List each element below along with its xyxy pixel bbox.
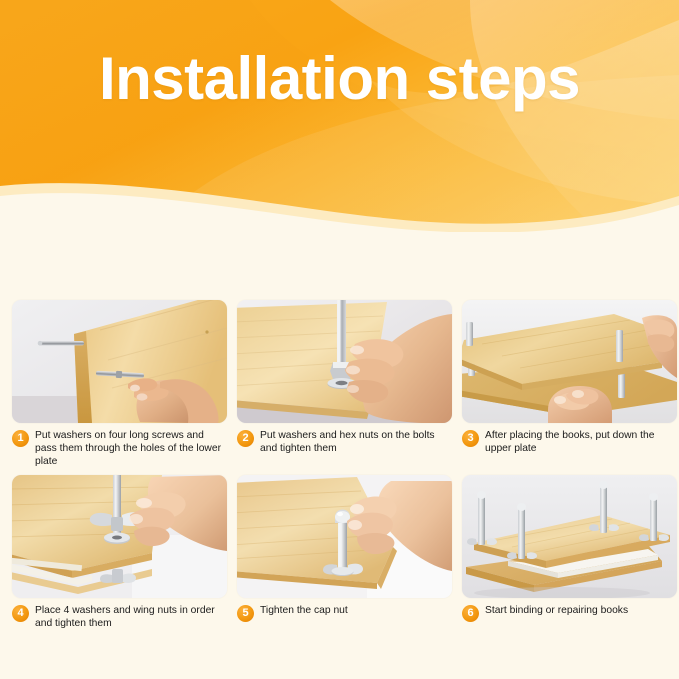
- page-title: Installation steps: [0, 47, 679, 110]
- photo-assembled-book-press-illustration: [462, 475, 677, 598]
- step-caption-2: 2 Put washers and hex nuts on the bolts …: [237, 429, 452, 455]
- step-card-2: 2 Put washers and hex nuts on the bolts …: [237, 300, 452, 469]
- step-photo-5: [237, 475, 452, 598]
- step-badge-3: 3: [462, 430, 479, 447]
- step-caption-6: 6 Start binding or repairing books: [462, 604, 677, 622]
- step-caption-text-6: Start binding or repairing books: [485, 604, 628, 617]
- step-caption-text-4: Place 4 washers and wing nuts in order a…: [35, 604, 225, 630]
- step-caption-3: 3 After placing the books, put down the …: [462, 429, 677, 455]
- step-photo-3: [462, 300, 677, 423]
- step-badge-1: 1: [12, 430, 29, 447]
- step-badge-6: 6: [462, 605, 479, 622]
- photo-hex-nut-tightening-illustration: [237, 300, 452, 423]
- step-photo-1: [12, 300, 227, 423]
- photo-upper-plate-placement-illustration: [462, 300, 677, 423]
- step-caption-4: 4 Place 4 washers and wing nuts in order…: [12, 604, 227, 630]
- header-background-graphic: [0, 0, 679, 232]
- header-banner: Installation steps: [0, 0, 679, 232]
- step-photo-6: [462, 475, 677, 598]
- step-badge-5: 5: [237, 605, 254, 622]
- step-photo-2: [237, 300, 452, 423]
- step-card-4: 4 Place 4 washers and wing nuts in order…: [12, 475, 227, 630]
- step-badge-4: 4: [12, 605, 29, 622]
- step-caption-5: 5 Tighten the cap nut: [237, 604, 452, 622]
- installation-steps-grid: 1 Put washers on four long screws and pa…: [12, 300, 667, 630]
- step-card-1: 1 Put washers on four long screws and pa…: [12, 300, 227, 469]
- step-badge-2: 2: [237, 430, 254, 447]
- photo-screw-through-hole-illustration: [12, 300, 227, 423]
- step-caption-text-2: Put washers and hex nuts on the bolts an…: [260, 429, 450, 455]
- step-caption-1: 1 Put washers on four long screws and pa…: [12, 429, 227, 469]
- photo-wing-nut-tightening-illustration: [12, 475, 227, 598]
- step-caption-text-5: Tighten the cap nut: [260, 604, 348, 617]
- step-caption-text-3: After placing the books, put down the up…: [485, 429, 675, 455]
- step-card-6: 6 Start binding or repairing books: [462, 475, 677, 630]
- photo-cap-nut-tightening-illustration: [237, 475, 452, 598]
- step-card-5: 5 Tighten the cap nut: [237, 475, 452, 630]
- step-photo-4: [12, 475, 227, 598]
- step-caption-text-1: Put washers on four long screws and pass…: [35, 429, 225, 469]
- step-card-3: 3 After placing the books, put down the …: [462, 300, 677, 469]
